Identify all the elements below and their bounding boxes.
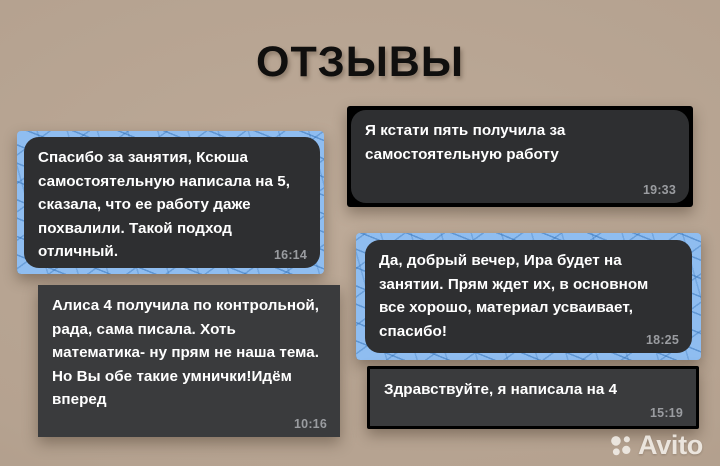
review-collage: ОТЗЫВЫ Спасибо за занятия, Ксюша самосто… — [0, 0, 720, 466]
message-text: Спасибо за занятия, Ксюша самостоятельну… — [38, 146, 306, 264]
avito-watermark: Avito — [610, 432, 703, 459]
message-timestamp: 19:33 — [643, 183, 676, 197]
message-bubble: Здравствуйте, я написала на 4 15:19 — [370, 369, 696, 426]
review-card-3: Да, добрый вечер, Ира будет на занятии. … — [356, 233, 701, 360]
avito-dots-icon — [610, 434, 633, 457]
message-bubble: Алиса 4 получила по контрольной, рада, с… — [38, 285, 340, 437]
message-text: Я кстати пять получила за самостоятельну… — [365, 119, 675, 166]
review-card-2: Я кстати пять получила за самостоятельну… — [347, 106, 693, 207]
message-timestamp: 15:19 — [650, 406, 683, 420]
review-card-5: Здравствуйте, я написала на 4 15:19 — [367, 366, 699, 429]
message-bubble: Да, добрый вечер, Ира будет на занятии. … — [365, 240, 692, 353]
message-timestamp: 10:16 — [294, 417, 327, 431]
review-card-4: Алиса 4 получила по контрольной, рада, с… — [38, 285, 340, 437]
review-card-1: Спасибо за занятия, Ксюша самостоятельну… — [17, 131, 324, 274]
avito-label: Avito — [638, 432, 703, 459]
message-bubble: Спасибо за занятия, Ксюша самостоятельну… — [24, 137, 320, 268]
message-bubble: Я кстати пять получила за самостоятельну… — [351, 110, 689, 203]
message-text: Здравствуйте, я написала на 4 — [384, 378, 682, 402]
message-text: Алиса 4 получила по контрольной, рада, с… — [52, 294, 326, 412]
page-title: ОТЗЫВЫ — [0, 34, 720, 90]
message-text: Да, добрый вечер, Ира будет на занятии. … — [379, 249, 678, 343]
message-timestamp: 18:25 — [646, 333, 679, 347]
message-timestamp: 16:14 — [274, 248, 307, 262]
